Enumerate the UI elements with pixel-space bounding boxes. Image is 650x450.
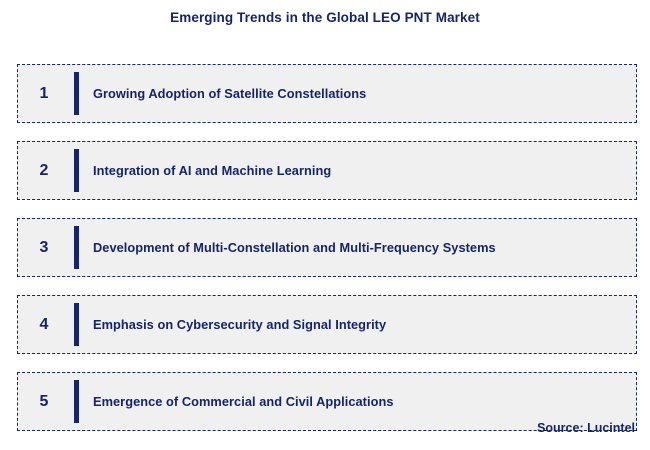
trend-list: 1 Growing Adoption of Satellite Constell…: [17, 64, 637, 431]
trend-label: Development of Multi-Constellation and M…: [79, 240, 636, 255]
list-item[interactable]: 2 Integration of AI and Machine Learning: [17, 141, 637, 200]
page-title: Emerging Trends in the Global LEO PNT Ma…: [0, 10, 650, 25]
trend-rank-number: 4: [18, 317, 74, 333]
trend-rank-number: 1: [18, 86, 74, 102]
trend-rank-number: 5: [18, 394, 74, 410]
trend-rank-number: 2: [18, 163, 74, 179]
trend-rank-number: 3: [18, 240, 74, 256]
list-item[interactable]: 1 Growing Adoption of Satellite Constell…: [17, 64, 637, 123]
trend-label: Emergence of Commercial and Civil Applic…: [79, 394, 636, 409]
trend-label: Integration of AI and Machine Learning: [79, 163, 636, 178]
trends-infographic: Emerging Trends in the Global LEO PNT Ma…: [0, 0, 650, 450]
trend-label: Growing Adoption of Satellite Constellat…: [79, 86, 636, 101]
trend-label: Emphasis on Cybersecurity and Signal Int…: [79, 317, 636, 332]
list-item[interactable]: 3 Development of Multi-Constellation and…: [17, 218, 637, 277]
list-item[interactable]: 4 Emphasis on Cybersecurity and Signal I…: [17, 295, 637, 354]
source-attribution: Source: Lucintel: [537, 421, 635, 435]
